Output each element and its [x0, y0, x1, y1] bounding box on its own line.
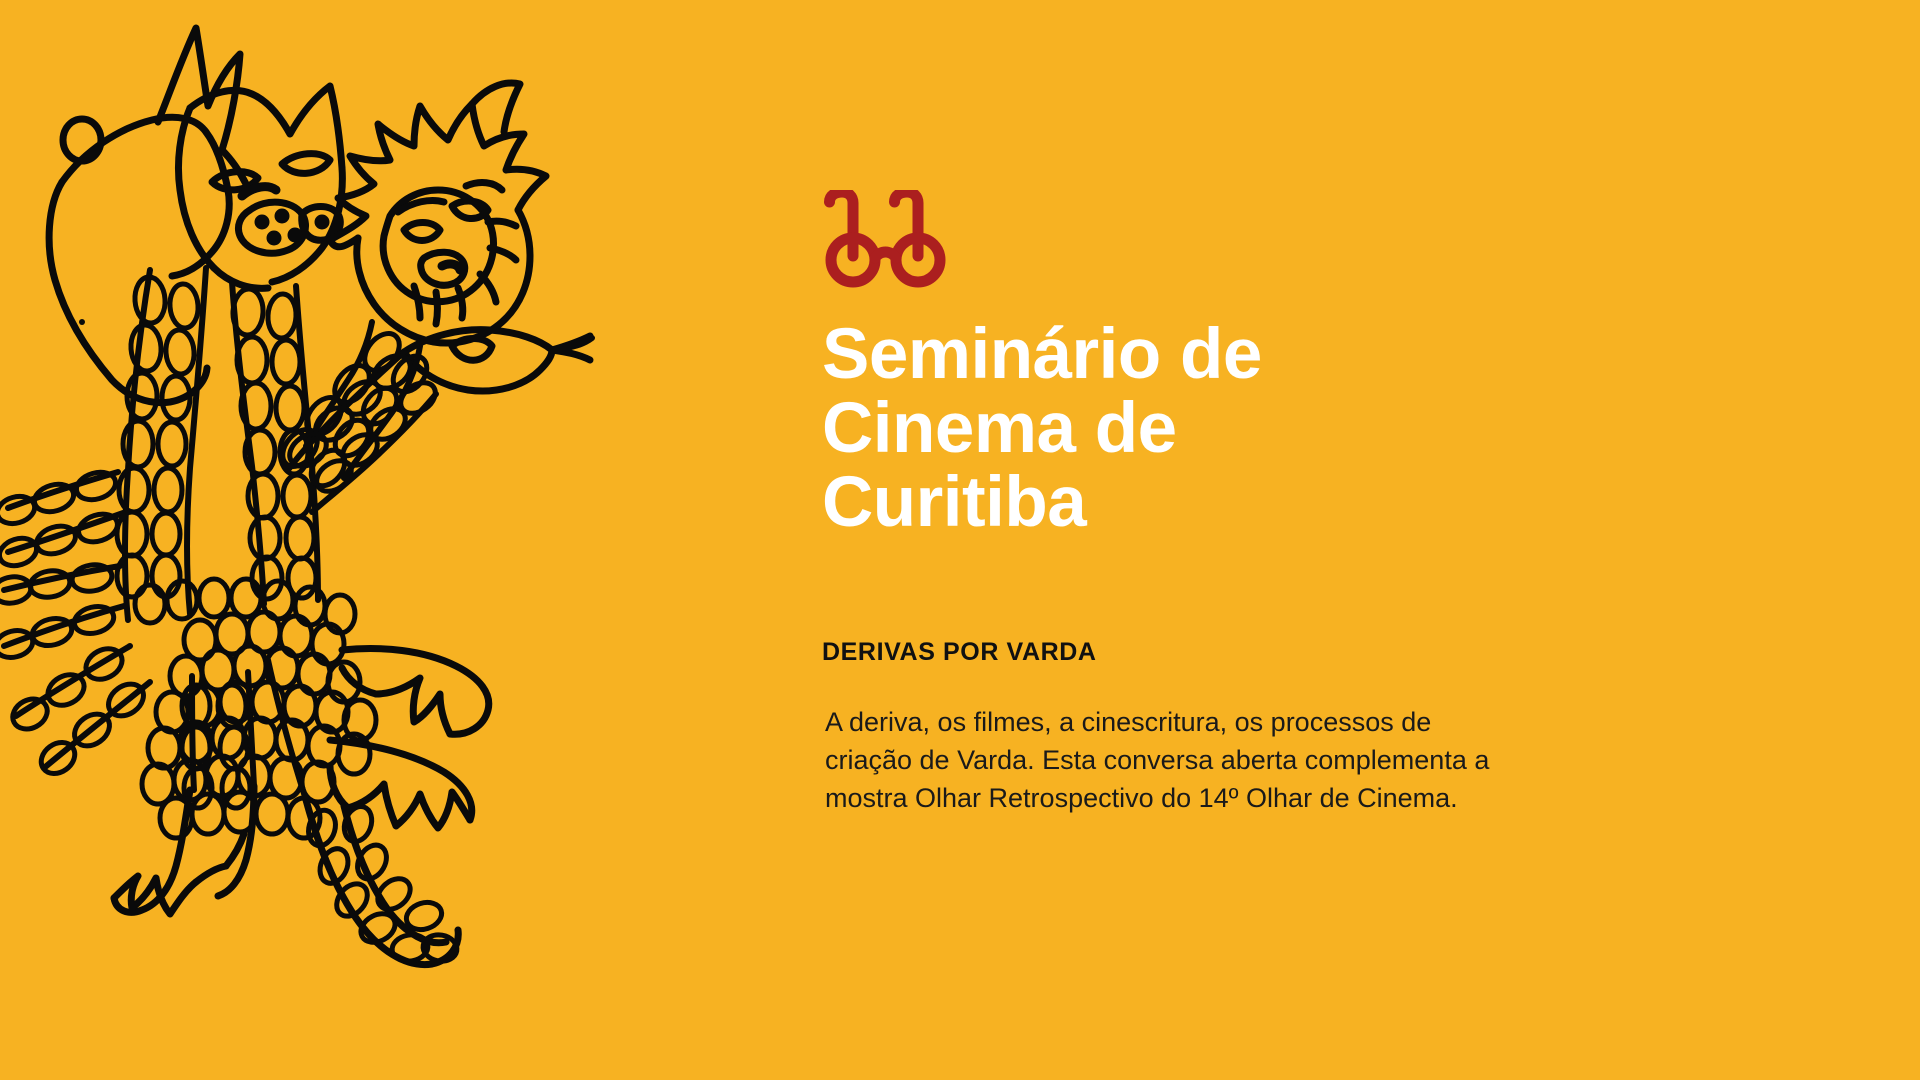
bird-head-shape [49, 28, 246, 403]
cat-head-shape [178, 86, 342, 288]
body-scale-cluster [135, 579, 376, 838]
limbs-and-feet [114, 649, 489, 965]
scale-cells [0, 276, 441, 808]
content-column: Seminário de Cinema de Curitiba DERIVAS … [822, 0, 1822, 1080]
page-title: Seminário de Cinema de Curitiba [822, 318, 1462, 540]
section-description: A deriva, os filmes, a cinescritura, os … [825, 703, 1525, 817]
creature-illustration [0, 0, 760, 1080]
scaled-necks [4, 268, 436, 800]
poster-canvas: Seminário de Cinema de Curitiba DERIVAS … [0, 0, 1920, 1080]
ink-speck [79, 319, 85, 325]
section-heading: DERIVAS POR VARDA [822, 637, 1097, 667]
bd-glasses-logo [822, 190, 952, 290]
lion-head-shape [330, 83, 546, 343]
tail-scale-cells [305, 803, 459, 964]
snake-head-shape [404, 330, 592, 391]
